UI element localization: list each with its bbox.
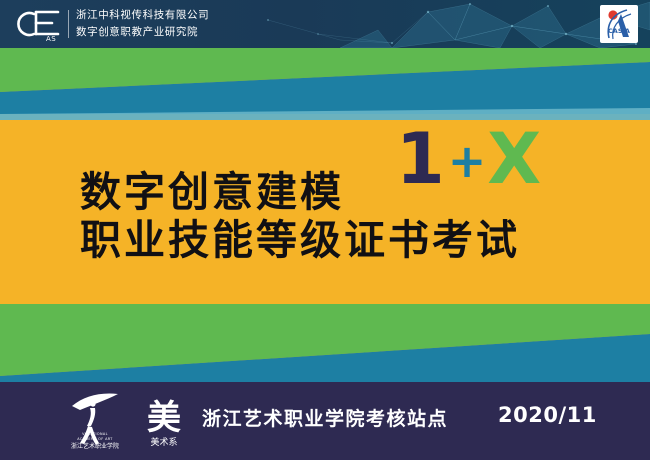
casia-logo-mark: CASIA [600, 5, 638, 43]
header-divider [68, 10, 69, 38]
mark-plus-sign: + [448, 132, 487, 190]
academy-logo-en-line-1: VOCATIONAL [82, 432, 108, 436]
certificate-exam-poster: AS 浙江中科视传科技有限公司 数字创意职教产业研究院 CASIA 数字创意建模… [0, 0, 650, 460]
exam-date-label: 2020/11 [498, 403, 597, 427]
casia-logo-caption: CASIA [608, 27, 630, 35]
ce-as-logo: AS [14, 5, 66, 43]
title-line-2: 职业技能等级证书考试 [80, 216, 520, 264]
header-company-name: 浙江中科视传科技有限公司 数字创意职教产业研究院 [76, 7, 209, 41]
casia-institute-logo: CASIA [600, 5, 638, 43]
company-name-line-1: 浙江中科视传科技有限公司 [76, 7, 209, 24]
footer-logo-group: VOCATIONAL ACADEMY OF ART 浙江艺术职业学院 美 美术系 [66, 388, 188, 450]
academy-logo-cn: 浙江艺术职业学院 [71, 442, 119, 450]
department-caption: 美术系 [150, 436, 177, 448]
header-bar: AS 浙江中科视传科技有限公司 数字创意职教产业研究院 CASIA [0, 0, 650, 48]
fine-arts-department-seal: 美 美术系 [140, 389, 188, 449]
academy-logo-en-line-2: ACADEMY OF ART [77, 437, 113, 441]
svg-text:AS: AS [46, 35, 56, 43]
mark-letter-x: X [487, 124, 541, 194]
one-plus-x-mark: 1 + X [396, 124, 541, 194]
seal-character: 美 [147, 398, 181, 438]
zhejiang-vocational-academy-of-art-logo: VOCATIONAL ACADEMY OF ART 浙江艺术职业学院 [66, 388, 124, 450]
company-name-line-2: 数字创意职教产业研究院 [76, 24, 209, 41]
exam-site-label: 浙江艺术职业学院考核站点 [202, 404, 448, 431]
mark-digit-one: 1 [396, 124, 445, 194]
